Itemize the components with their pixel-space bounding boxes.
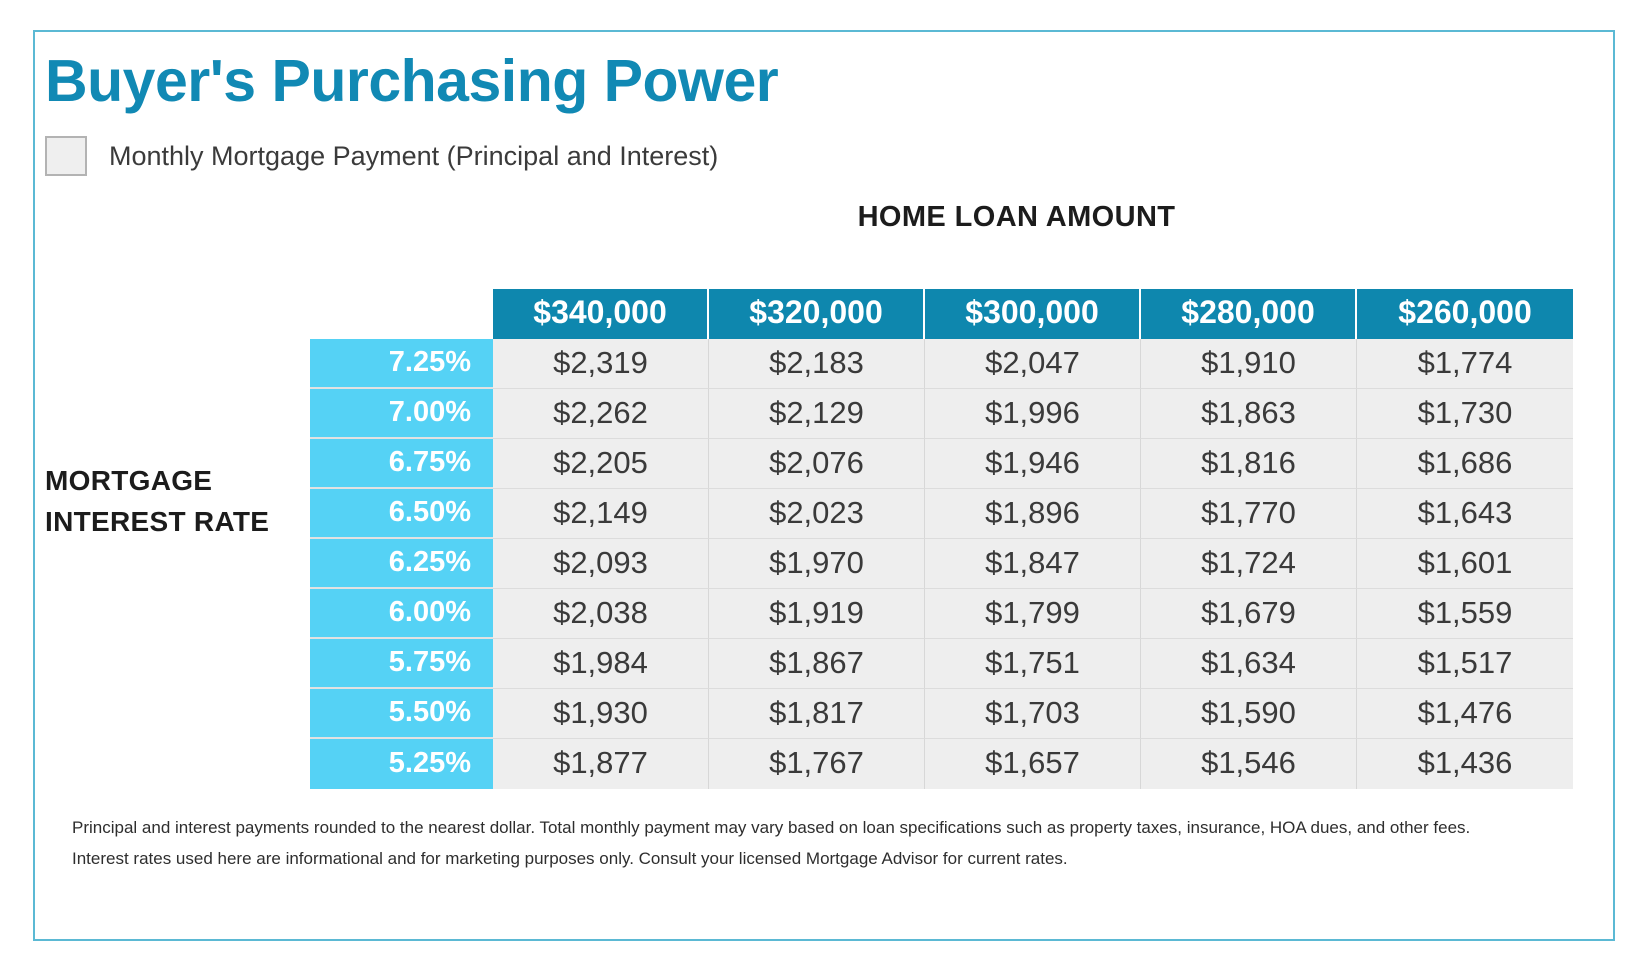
row-header-interest-rate: 6.75% [310, 439, 493, 489]
payment-cell: $2,023 [709, 489, 925, 539]
payment-cell: $1,436 [1357, 739, 1573, 789]
payment-cell: $1,996 [925, 389, 1141, 439]
row-header-interest-rate: 7.00% [310, 389, 493, 439]
row-header-interest-rate: 5.50% [310, 689, 493, 739]
payment-cell: $1,847 [925, 539, 1141, 589]
payment-cell: $2,047 [925, 339, 1141, 389]
payment-cell: $1,601 [1357, 539, 1573, 589]
column-header-loan-amount: $280,000 [1141, 289, 1357, 339]
column-header-loan-amount: $260,000 [1357, 289, 1573, 339]
payment-cell: $1,643 [1357, 489, 1573, 539]
table-row: 6.75% $2,205 $2,076 $1,946 $1,816 $1,686 [310, 439, 1573, 489]
table-row: 7.00% $2,262 $2,129 $1,996 $1,863 $1,730 [310, 389, 1573, 439]
column-group-title: HOME LOAN AMOUNT [460, 201, 1573, 234]
payment-cell: $1,517 [1357, 639, 1573, 689]
row-header-interest-rate: 5.25% [310, 739, 493, 789]
payment-cell: $2,093 [493, 539, 709, 589]
payment-cell: $1,816 [1141, 439, 1357, 489]
payment-cell: $2,262 [493, 389, 709, 439]
table-row: 5.50% $1,930 $1,817 $1,703 $1,590 $1,476 [310, 689, 1573, 739]
payment-cell: $1,730 [1357, 389, 1573, 439]
payment-cell: $2,205 [493, 439, 709, 489]
footnotes: Principal and interest payments rounded … [72, 813, 1470, 875]
table-body: 7.25% $2,319 $2,183 $2,047 $1,910 $1,774… [310, 339, 1573, 789]
payment-cell: $1,774 [1357, 339, 1573, 389]
payment-cell: $1,863 [1141, 389, 1357, 439]
payment-cell: $1,703 [925, 689, 1141, 739]
table-row: 6.00% $2,038 $1,919 $1,799 $1,679 $1,559 [310, 589, 1573, 639]
legend: Monthly Mortgage Payment (Principal and … [45, 136, 718, 176]
table-row: 5.75% $1,984 $1,867 $1,751 $1,634 $1,517 [310, 639, 1573, 689]
row-header-interest-rate: 6.25% [310, 539, 493, 589]
payment-cell: $1,919 [709, 589, 925, 639]
column-header-loan-amount: $340,000 [493, 289, 709, 339]
payment-cell: $1,476 [1357, 689, 1573, 739]
payment-cell: $1,817 [709, 689, 925, 739]
row-header-interest-rate: 7.25% [310, 339, 493, 389]
table-corner-cell [310, 289, 493, 339]
payment-cell: $1,751 [925, 639, 1141, 689]
payment-cell: $1,910 [1141, 339, 1357, 389]
payment-cell: $2,149 [493, 489, 709, 539]
payment-cell: $1,799 [925, 589, 1141, 639]
row-header-interest-rate: 6.00% [310, 589, 493, 639]
mortgage-payment-table: $340,000 $320,000 $300,000 $280,000 $260… [310, 289, 1573, 789]
payment-cell: $1,724 [1141, 539, 1357, 589]
legend-swatch-icon [45, 136, 87, 176]
purchasing-power-infographic: Buyer's Purchasing Power Monthly Mortgag… [0, 0, 1650, 970]
row-header-interest-rate: 6.50% [310, 489, 493, 539]
payment-cell: $1,930 [493, 689, 709, 739]
table-row: 6.50% $2,149 $2,023 $1,896 $1,770 $1,643 [310, 489, 1573, 539]
column-header-loan-amount: $320,000 [709, 289, 925, 339]
payment-cell: $1,559 [1357, 589, 1573, 639]
footnote-line-1: Principal and interest payments rounded … [72, 813, 1470, 844]
payment-cell: $1,686 [1357, 439, 1573, 489]
payment-cell: $1,984 [493, 639, 709, 689]
row-header-interest-rate: 5.75% [310, 639, 493, 689]
payment-cell: $2,183 [709, 339, 925, 389]
payment-cell: $1,877 [493, 739, 709, 789]
payment-cell: $2,076 [709, 439, 925, 489]
payment-cell: $1,767 [709, 739, 925, 789]
payment-cell: $1,634 [1141, 639, 1357, 689]
payment-cell: $2,129 [709, 389, 925, 439]
payment-cell: $1,970 [709, 539, 925, 589]
table-row: 5.25% $1,877 $1,767 $1,657 $1,546 $1,436 [310, 739, 1573, 789]
payment-cell: $1,770 [1141, 489, 1357, 539]
payment-cell: $1,546 [1141, 739, 1357, 789]
payment-cell: $1,896 [925, 489, 1141, 539]
legend-label: Monthly Mortgage Payment (Principal and … [109, 141, 718, 172]
payment-cell: $1,590 [1141, 689, 1357, 739]
payment-cell: $1,867 [709, 639, 925, 689]
column-header-loan-amount: $300,000 [925, 289, 1141, 339]
table-row: 6.25% $2,093 $1,970 $1,847 $1,724 $1,601 [310, 539, 1573, 589]
table-header-row: $340,000 $320,000 $300,000 $280,000 $260… [310, 289, 1573, 339]
payment-cell: $1,946 [925, 439, 1141, 489]
payment-cell: $2,319 [493, 339, 709, 389]
page-title: Buyer's Purchasing Power [45, 47, 778, 115]
table-row: 7.25% $2,319 $2,183 $2,047 $1,910 $1,774 [310, 339, 1573, 389]
payment-cell: $1,679 [1141, 589, 1357, 639]
payment-cell: $2,038 [493, 589, 709, 639]
footnote-line-2: Interest rates used here are information… [72, 844, 1470, 875]
row-group-title: MORTGAGE INTEREST RATE [45, 460, 295, 542]
payment-cell: $1,657 [925, 739, 1141, 789]
